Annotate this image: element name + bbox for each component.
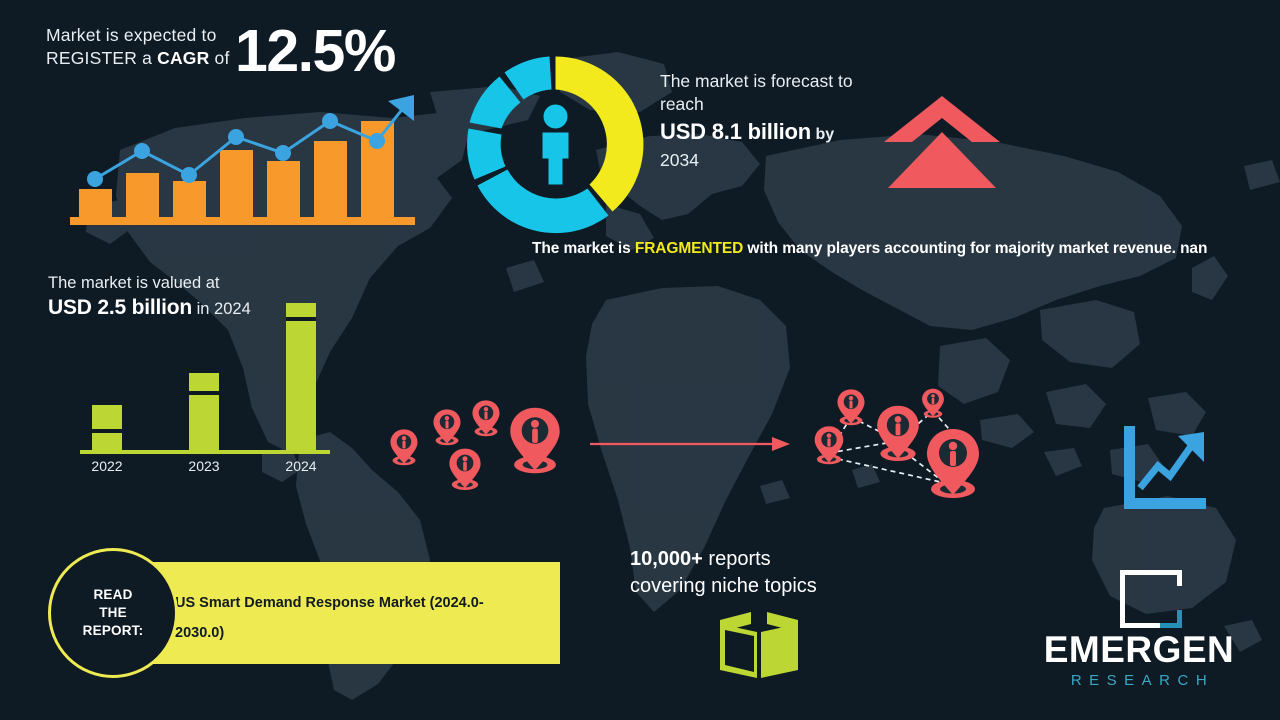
- logo-wordmark: EMERGEN: [1014, 630, 1264, 670]
- cagr-label-line2-pre: REGISTER a: [46, 48, 157, 68]
- forecast-lead: The market is forecast to reach: [660, 70, 910, 116]
- right-arrow-icon: [590, 432, 790, 456]
- cagr-block: Market is expected to REGISTER a CAGR of…: [46, 20, 446, 82]
- map-pin-person-icon: [433, 409, 460, 445]
- cagr-label-line1: Market is expected to: [46, 25, 217, 45]
- map-pin-person-icon: [510, 408, 559, 474]
- cagr-label-line2-post: of: [209, 48, 229, 68]
- map-pin-person-icon: [837, 389, 864, 425]
- read-report-line1: READ: [93, 587, 132, 602]
- logo-subtitle: RESEARCH: [1014, 672, 1264, 690]
- growth-chart-icon: [1118, 424, 1210, 512]
- forecast-value-line: USD 8.1 billion by 2034: [660, 119, 910, 172]
- read-report-line3: REPORT:: [83, 623, 144, 638]
- fragmented-players-pin-cluster: [380, 385, 580, 495]
- fragmented-post: with many players accounting for majorit…: [743, 240, 1180, 257]
- forecast-value: USD 8.1 billion: [660, 119, 811, 144]
- map-pin-person-icon: [390, 429, 417, 465]
- consolidated-players-pin-network: [805, 385, 1015, 505]
- map-pin-person-icon: [922, 389, 944, 418]
- forecast-block: The market is forecast to reach USD 8.1 …: [660, 70, 910, 172]
- map-pin-person-icon: [449, 449, 480, 490]
- green-bar-label-2024: 2024: [285, 458, 316, 474]
- reports-count-block: 10,000+ reports covering niche topics: [630, 546, 930, 600]
- forecast-by-label: by: [811, 126, 834, 143]
- reports-count-number: 10,000+: [630, 548, 703, 570]
- fragmentation-statement: The market is FRAGMENTED with many playe…: [532, 236, 1222, 261]
- read-report-label: READ THE REPORT:: [51, 551, 175, 675]
- cagr-growth-bar-chart: [70, 85, 415, 225]
- market-value-lead: The market is valued at: [48, 272, 378, 294]
- person-icon: [543, 105, 569, 185]
- cagr-value: 12.5%: [235, 20, 395, 82]
- fragmented-highlight: FRAGMENTED: [635, 240, 743, 257]
- square-bracket-logo-icon: [1120, 570, 1182, 628]
- forecast-year: 2034: [660, 149, 910, 172]
- green-bar-label-2023: 2023: [188, 458, 219, 474]
- reports-count-line2: covering niche topics: [630, 573, 930, 600]
- read-report-badge[interactable]: READ THE REPORT:: [48, 548, 178, 678]
- reports-count-suffix: reports: [703, 548, 771, 570]
- forecast-lead-line2: reach: [660, 94, 704, 114]
- read-report-line2: THE: [99, 605, 127, 620]
- map-pin-person-icon: [877, 406, 919, 461]
- market-value-bar-chart: 2022 2023 2024: [80, 295, 330, 475]
- fragmented-tail: nan: [1180, 240, 1207, 257]
- open-book-icon: [718, 612, 800, 678]
- infographic-canvas: Market is expected to REGISTER a CAGR of…: [0, 0, 1280, 720]
- fragmented-pre: The market is: [532, 240, 635, 257]
- green-bar-label-2022: 2022: [91, 458, 122, 474]
- emergen-research-logo: EMERGEN RESEARCH: [1014, 566, 1264, 706]
- cagr-label: Market is expected to REGISTER a CAGR of: [46, 20, 231, 70]
- report-title[interactable]: US Smart Demand Response Market (2024.0-…: [175, 588, 525, 648]
- cagr-label-bold: CAGR: [157, 48, 209, 68]
- map-pin-person-icon: [927, 429, 979, 498]
- market-share-donut-chart: [463, 52, 648, 237]
- double-up-arrow-icon: [884, 96, 1000, 190]
- forecast-lead-line1: The market is forecast to: [660, 71, 853, 91]
- map-pin-person-icon: [815, 426, 844, 464]
- reports-count-line1: 10,000+ reports: [630, 546, 930, 573]
- map-pin-person-icon: [472, 400, 499, 436]
